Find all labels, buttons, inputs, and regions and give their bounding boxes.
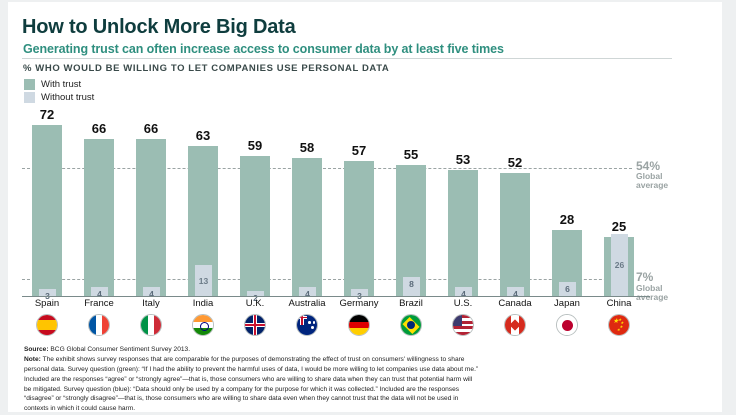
bar-value-with-trust: 52	[500, 155, 530, 170]
category-label: China	[593, 298, 645, 309]
bar-value-without-trust: 4	[455, 289, 472, 299]
note-line-1: Note: The exhibit shows survey responses…	[24, 356, 624, 365]
bar-value-with-trust: 72	[32, 107, 62, 122]
bar-value-without-trust: 13	[195, 276, 212, 286]
bar-value-with-trust: 58	[292, 140, 322, 155]
bar-value-with-trust: 63	[188, 128, 218, 143]
category-label: India	[177, 298, 229, 309]
bar-with-trust	[84, 139, 114, 296]
bar-with-trust	[136, 139, 166, 296]
bar-value-with-trust: 28	[552, 212, 582, 227]
category-label: Brazil	[385, 298, 437, 309]
page-subtitle: Generating trust can often increase acce…	[23, 42, 504, 56]
flag-row: ★★★★★	[22, 314, 662, 340]
axis-caption: % WHO WOULD BE WILLING TO LET COMPANIES …	[23, 63, 389, 74]
flag-icon	[140, 314, 162, 336]
legend-label: Without trust	[41, 92, 94, 103]
source-text: BCG Global Consumer Sentiment Survey 201…	[50, 346, 190, 353]
chart-baseline	[22, 296, 650, 297]
bar-value-with-trust: 53	[448, 152, 478, 167]
category-label: Japan	[541, 298, 593, 309]
bar-with-trust	[344, 161, 374, 296]
bar-value-without-trust: 26	[611, 260, 628, 270]
flag-icon: ★★★★★	[608, 314, 630, 336]
header-divider	[22, 58, 672, 59]
note-line-3: Included are the responses “agree” or “s…	[24, 376, 624, 385]
flag-icon	[36, 314, 58, 336]
bar-with-trust	[32, 125, 62, 296]
category-label: Spain	[21, 298, 73, 309]
flag-icon	[244, 314, 266, 336]
note-text-1: The exhibit shows survey responses that …	[43, 356, 465, 363]
category-label: Canada	[489, 298, 541, 309]
legend-item-with-trust: With trust	[24, 78, 94, 91]
bar-value-with-trust: 25	[604, 219, 634, 234]
source-prefix: Source:	[24, 346, 49, 353]
bar-with-trust	[448, 170, 478, 296]
category-label: Italy	[125, 298, 177, 309]
note-line-4: be mitigated. Survey question (blue): “D…	[24, 386, 624, 395]
category-label: Germany	[333, 298, 385, 309]
note-line-6: contexts in which it could cause harm.	[24, 405, 624, 414]
bar-value-without-trust: 4	[507, 289, 524, 299]
chart-legend: With trust Without trust	[24, 78, 94, 104]
bar-with-trust	[240, 156, 270, 296]
bar-with-trust	[292, 158, 322, 296]
bar-value-without-trust: 4	[143, 289, 160, 299]
flag-icon	[452, 314, 474, 336]
flag-icon	[296, 314, 318, 336]
flag-icon	[556, 314, 578, 336]
category-label: U.S.	[437, 298, 489, 309]
chart-plot-area: 54% Global average 7% Global average 723…	[22, 106, 662, 296]
note-prefix: Note:	[24, 356, 41, 363]
bar-value-without-trust: 4	[299, 289, 316, 299]
bar-value-with-trust: 57	[344, 143, 374, 158]
flag-icon	[348, 314, 370, 336]
note-line-5: “disagree” or “strongly disagree”—that i…	[24, 395, 624, 404]
legend-label: With trust	[41, 79, 81, 90]
bar-group-container: 72366466463135925845735585345242862526	[22, 106, 662, 296]
bar-value-with-trust: 66	[84, 121, 114, 136]
bar-with-trust	[500, 173, 530, 297]
flag-icon	[88, 314, 110, 336]
bar-value-with-trust: 55	[396, 147, 426, 162]
flag-icon	[504, 314, 526, 336]
bar-value-with-trust: 66	[136, 121, 166, 136]
bar-value-with-trust: 59	[240, 138, 270, 153]
category-label: Australia	[281, 298, 333, 309]
category-label: France	[73, 298, 125, 309]
legend-swatch-icon	[24, 92, 35, 103]
bar-value-without-trust: 4	[91, 289, 108, 299]
exhibit-card: How to Unlock More Big Data Generating t…	[8, 2, 722, 412]
footnotes: Source: BCG Global Consumer Sentiment Su…	[24, 346, 624, 415]
flag-icon	[400, 314, 422, 336]
legend-swatch-icon	[24, 79, 35, 90]
page-title: How to Unlock More Big Data	[22, 16, 296, 39]
bar-value-without-trust: 6	[559, 284, 576, 294]
flag-icon	[192, 314, 214, 336]
note-line-2: personal data. Survey question (green): …	[24, 366, 624, 375]
bar-value-without-trust: 8	[403, 279, 420, 289]
category-label: U.K.	[229, 298, 281, 309]
legend-item-without-trust: Without trust	[24, 91, 94, 104]
source-line: Source: BCG Global Consumer Sentiment Su…	[24, 346, 624, 355]
